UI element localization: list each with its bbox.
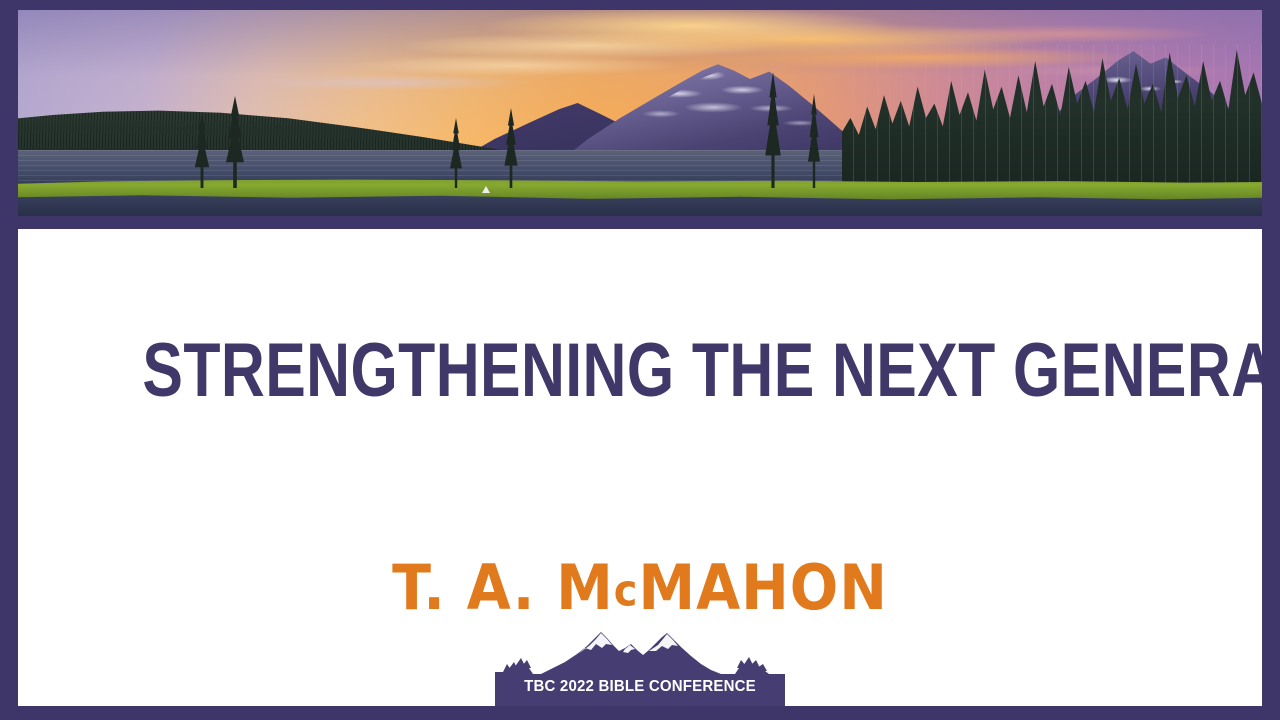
speaker-name-mc: c — [614, 567, 639, 617]
conference-logo-text: TBC 2022 BIBLE CONFERENCE — [524, 678, 756, 695]
conifer-trunks — [842, 44, 1262, 186]
mountain-range-logo-icon: TBC 2022 BIBLE CONFERENCE — [495, 624, 785, 706]
frame-border-right — [1262, 0, 1280, 720]
frame-border-left — [0, 0, 18, 720]
slide-content-card: STRENGTHENING THE NEXT GENERATION T. A. … — [18, 229, 1262, 706]
frame-border-top — [0, 0, 1280, 10]
frame-border-bottom — [0, 706, 1280, 720]
conference-logo: TBC 2022 BIBLE CONFERENCE — [495, 624, 785, 706]
hero-landscape-photo — [18, 10, 1262, 216]
frame-divider — [0, 216, 1280, 229]
presentation-slide: STRENGTHENING THE NEXT GENERATION T. A. … — [0, 0, 1280, 720]
slide-title: STRENGTHENING THE NEXT GENERATION — [142, 333, 1137, 409]
speaker-name: T. A. McMAHON — [68, 557, 1212, 619]
speaker-name-suffix: MAHON — [638, 551, 887, 624]
speaker-name-prefix: T. A. M — [392, 551, 614, 624]
